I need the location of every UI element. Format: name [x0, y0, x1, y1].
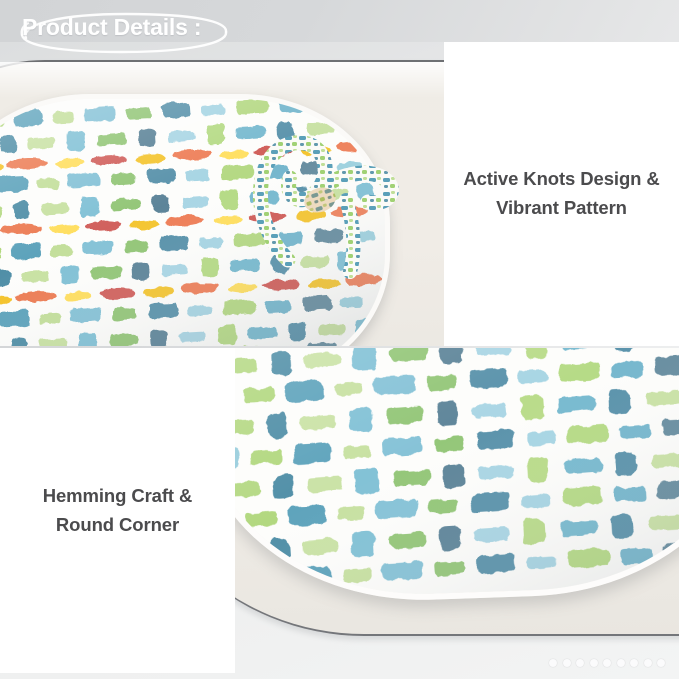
caption-panel-active-knots: Active Knots Design & Vibrant Pattern [444, 42, 679, 346]
pager-dot[interactable] [603, 659, 611, 667]
pager-dot[interactable] [644, 659, 652, 667]
fabric-pattern-bottom [195, 348, 679, 601]
product-photo-hemming-craft: Hemming Craft & Round Corner [0, 348, 679, 679]
caption-hemming-craft: Hemming Craft & Round Corner [35, 482, 201, 539]
caption-line-1: Active Knots Design & [463, 168, 659, 189]
page-title: Product Details : [14, 8, 244, 56]
product-photo-active-knots: Active Knots Design & Vibrant Pattern [0, 42, 679, 346]
page-title-text: Product Details : [22, 14, 201, 41]
pager-dot[interactable] [563, 659, 571, 667]
pager-dot[interactable] [576, 659, 584, 667]
caption-panel-hemming-craft: Hemming Craft & Round Corner [0, 348, 235, 673]
caption-active-knots: Active Knots Design & Vibrant Pattern [455, 165, 667, 222]
pager-dot[interactable] [549, 659, 557, 667]
fabric-tie-knot [228, 120, 403, 285]
pager-dot[interactable] [657, 659, 665, 667]
caption-line-2: Vibrant Pattern [496, 197, 627, 218]
cushion-bottom [189, 348, 679, 608]
product-details-image: Product Details : [0, 0, 679, 679]
pager-dot[interactable] [617, 659, 625, 667]
caption-line-1: Hemming Craft & [43, 485, 193, 506]
caption-line-2: Round Corner [56, 514, 179, 535]
pager-dot[interactable] [590, 659, 598, 667]
pager-dot[interactable] [630, 659, 638, 667]
pager-dots [549, 659, 665, 667]
